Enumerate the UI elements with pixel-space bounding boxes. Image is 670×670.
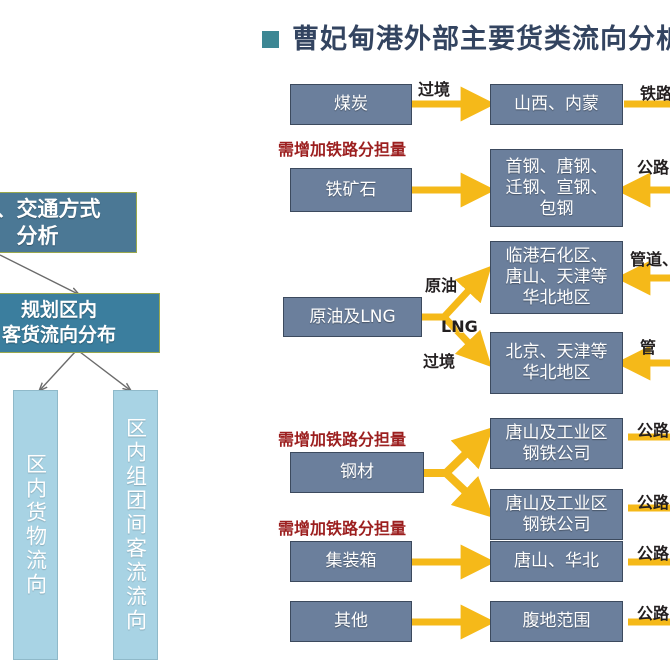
dest-petro-line1: 临港石化区、 (506, 246, 608, 267)
dest-steel-mills-line1: 首钢、唐钢、 (506, 157, 608, 178)
source-box-steel-products: 钢材 (290, 452, 424, 493)
left-box-cargo-flow: 区内货物流向 (13, 390, 58, 660)
dest-steel-mills-line2: 迁钢、宣钢、 (506, 178, 608, 199)
slide-canvas: 曹妃甸港外部主要货类流向分析 量、交通方式 分析 规划区内 客货流向分布 区内货… (0, 0, 670, 670)
dest-box-tangshan-north-china: 唐山、华北 (490, 541, 623, 582)
dest-petro-line3: 华北地区 (506, 288, 608, 309)
dest-tangsteel1-line1: 唐山及工业区 (506, 423, 608, 444)
source-box-iron-ore: 铁矿石 (290, 168, 412, 212)
note-increase-rail-share-container: 需增加铁路分担量 (278, 515, 406, 539)
left-box-distribution: 规划区内 客货流向分布 (0, 293, 160, 353)
dest-box-tangshan-steel-2: 唐山及工业区 钢铁公司 (490, 489, 623, 540)
left-box-distribution-line2: 客货流向分布 (2, 323, 116, 348)
dest-petro-line2: 唐山、天津等 (506, 267, 608, 288)
dest-box-beijing-tianjin: 北京、天津等 华北地区 (490, 332, 623, 394)
mode-label-road-steel-2: 公路 (637, 489, 669, 513)
dest-beijing-line1: 北京、天津等 (506, 342, 608, 363)
dest-tangsteel2-line1: 唐山及工业区 (506, 494, 608, 515)
note-increase-rail-share-steel: 需增加铁路分担量 (278, 426, 406, 450)
source-box-other: 其他 (290, 601, 412, 642)
branch-label-crude-oil: 原油 (425, 272, 457, 296)
mode-label-road-other: 公路 (637, 600, 669, 624)
source-box-coal: 煤炭 (290, 84, 412, 125)
left-box-distribution-line1: 规划区内 (2, 298, 116, 323)
source-box-crude-lng: 原油及LNG (283, 297, 422, 337)
arrow-label-transit-coal: 过境 (418, 76, 450, 100)
dest-tangsteel2-line2: 钢铁公司 (506, 515, 608, 536)
dest-box-steel-mills: 首钢、唐钢、 迁钢、宣钢、 包钢 (490, 149, 623, 227)
mode-label-road-steel-1: 公路 (637, 417, 669, 441)
mode-label-road-container: 公路 (637, 540, 669, 564)
dest-box-shanxi-inner-mongolia: 山西、内蒙 (490, 84, 623, 125)
mode-label-pipeline-2: 管 (640, 334, 656, 358)
dest-tangsteel1-line2: 钢铁公司 (506, 444, 608, 465)
note-increase-rail-share-ore: 需增加铁路分担量 (278, 136, 406, 160)
branch-label-transit-lng: 过境 (423, 348, 455, 372)
mode-label-rail: 铁路 (640, 80, 670, 104)
dest-steel-mills-line3: 包钢 (506, 199, 608, 220)
square-bullet-icon (262, 31, 279, 48)
left-box-passenger-flow: 区内组团间客流流向 (113, 390, 158, 660)
dest-box-hinterland: 腹地范围 (490, 601, 623, 642)
left-box-analysis-line2: 分析 (0, 223, 101, 250)
mode-label-road-ore: 公路 (637, 154, 669, 178)
left-box-analysis-line1: 量、交通方式 (0, 196, 101, 223)
dest-box-petrochemical-zone: 临港石化区、 唐山、天津等 华北地区 (490, 241, 623, 314)
page-title: 曹妃甸港外部主要货类流向分析 (292, 19, 670, 61)
mode-label-pipeline-1: 管道、 (630, 246, 670, 270)
dest-box-tangshan-steel-1: 唐山及工业区 钢铁公司 (490, 418, 623, 469)
branch-label-lng: LNG (441, 317, 478, 336)
left-box-analysis: 量、交通方式 分析 (0, 192, 137, 253)
source-box-container: 集装箱 (290, 541, 412, 582)
dest-beijing-line2: 华北地区 (506, 363, 608, 384)
